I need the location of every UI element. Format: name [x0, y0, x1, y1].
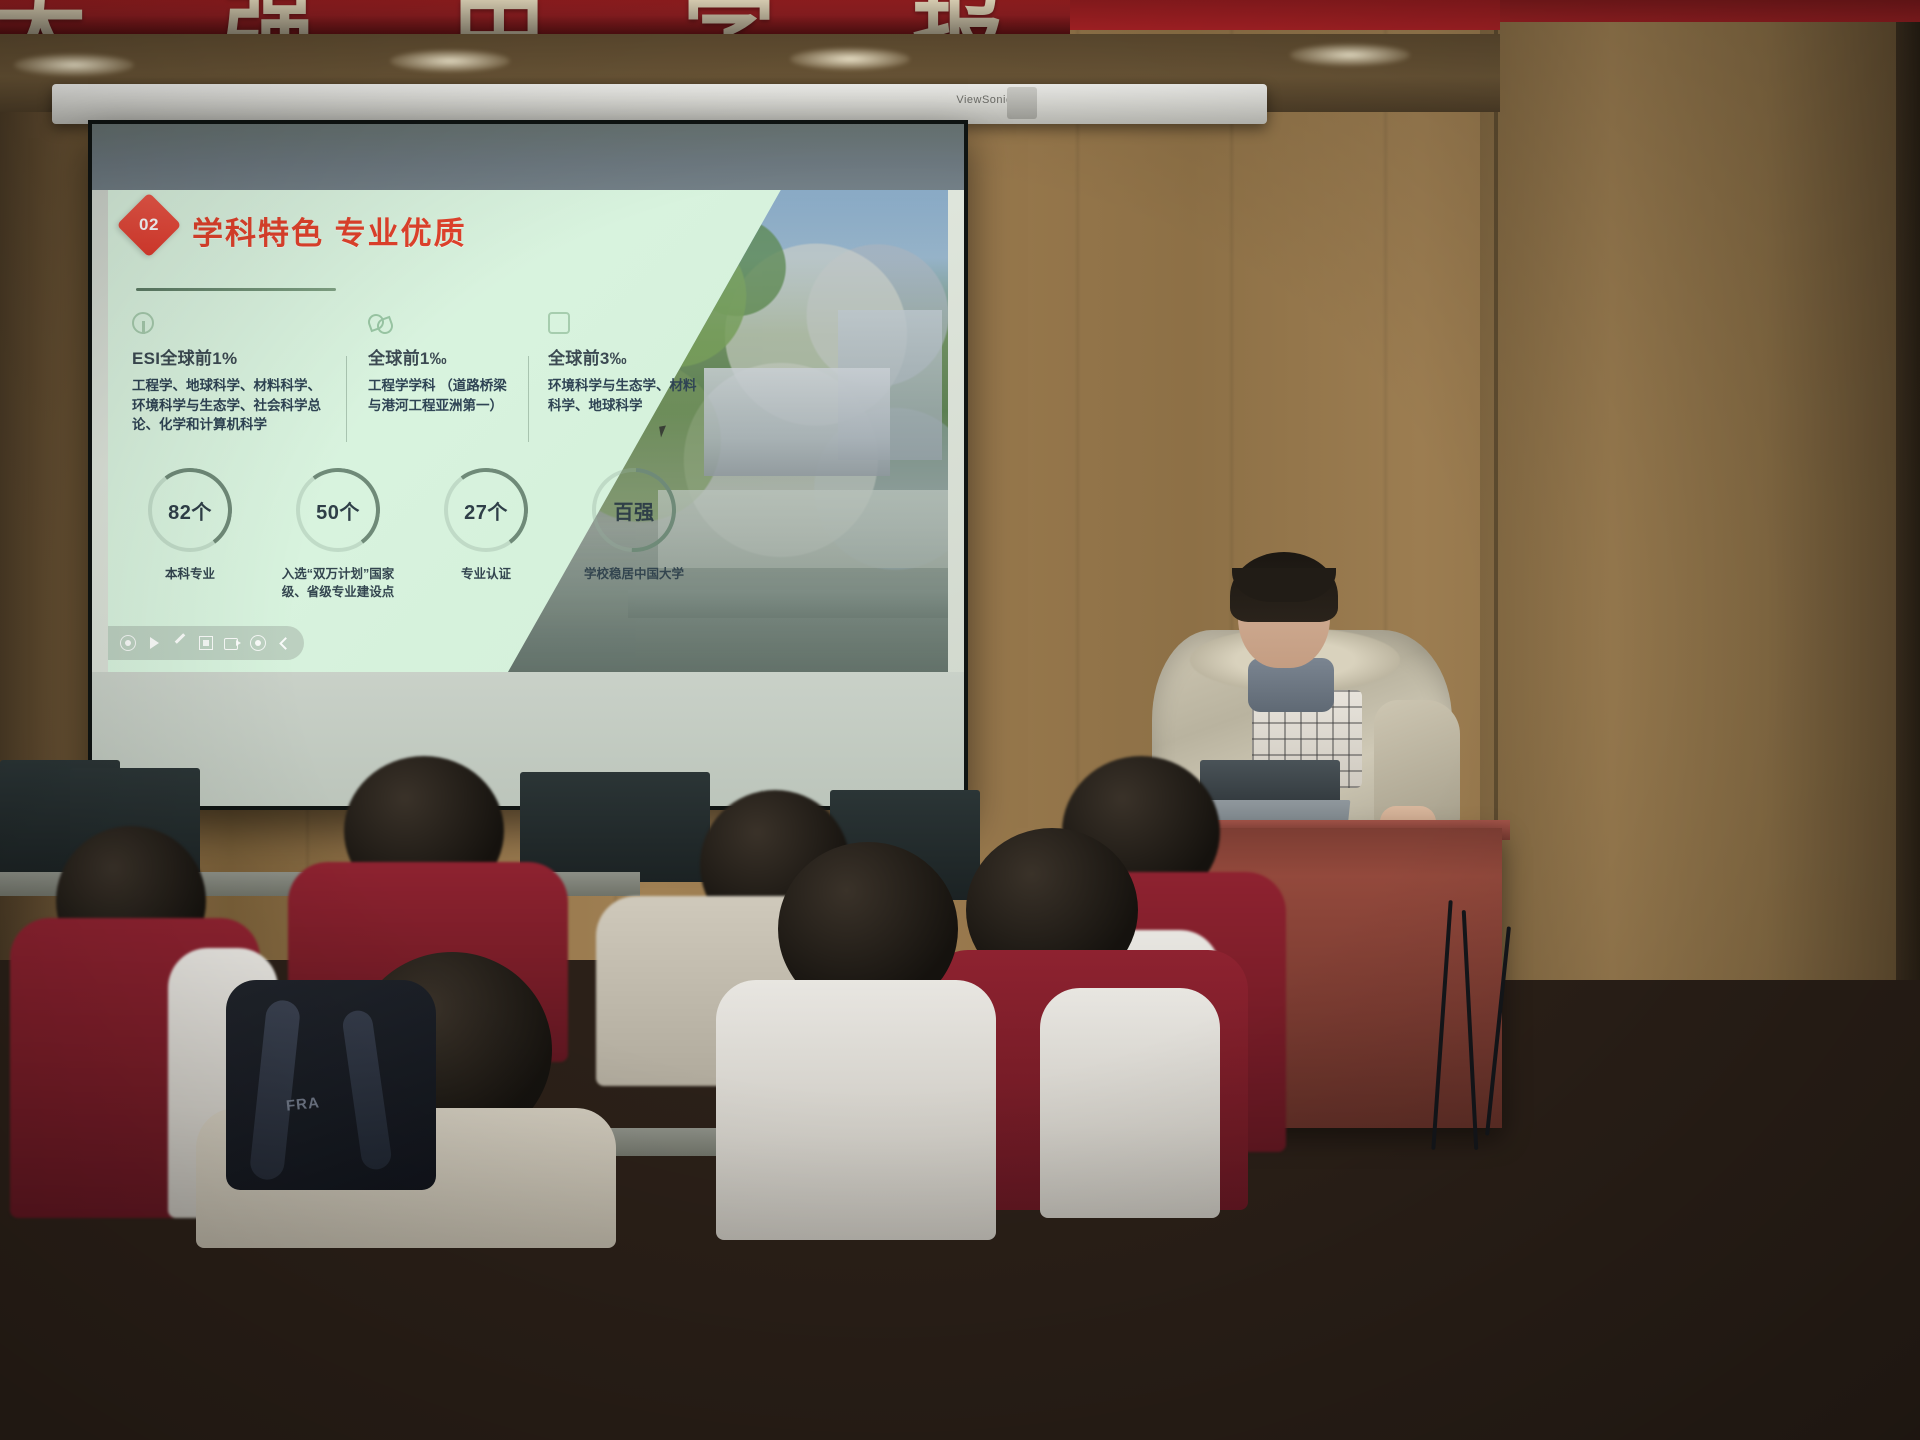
- metric-value: 27个: [444, 468, 528, 552]
- column-heading: 全球前1‰: [368, 344, 518, 369]
- column-body: 环境科学与生态学、材料科学、地球科学: [548, 376, 703, 415]
- banner-shadow: [0, 0, 1070, 34]
- metric-label: 专业认证: [426, 566, 546, 584]
- screen-unlit-top: [92, 124, 964, 190]
- presentation-slide: 02 学科特色 专业优质 ESI全球前1% 工程学、地球科学、材料科学、环境科学…: [108, 190, 948, 672]
- column-divider: [346, 356, 347, 442]
- projector-brand-label: ViewSonic: [956, 94, 1012, 106]
- backpack-logo: FRA: [285, 1094, 320, 1114]
- seat-back: [520, 772, 710, 882]
- column-heading: 全球前3‰: [548, 344, 703, 369]
- column-body: 工程学、地球科学、材料科学、环境科学与生态学、社会科学总论、化学和计算机科学: [132, 376, 332, 435]
- column-divider: [528, 356, 529, 442]
- monitor-icon[interactable]: [224, 635, 240, 651]
- metric-item: 百强 学校稳居中国大学: [574, 468, 694, 584]
- cable: [1485, 926, 1511, 1135]
- projector-screen-housing: ViewSonic: [52, 84, 1267, 124]
- progress-ring: 27个: [444, 468, 528, 552]
- metric-item: 82个 本科专业: [130, 468, 250, 584]
- slide-title: 学科特色 专业优质: [192, 208, 467, 253]
- metric-value: 百强: [592, 468, 676, 552]
- crop-frame-icon[interactable]: [198, 635, 214, 651]
- metric-label: 学校稳居中国大学: [574, 566, 694, 584]
- record-dot-icon[interactable]: [120, 635, 136, 651]
- play-icon[interactable]: [146, 635, 162, 651]
- metric-value: 82个: [148, 468, 232, 552]
- ceiling-light: [390, 50, 510, 72]
- ceiling-light: [1290, 44, 1410, 66]
- more-options-icon[interactable]: [250, 635, 266, 651]
- column-heading: ESI全球前1%: [132, 344, 332, 369]
- campus-building-main: [704, 368, 890, 476]
- metric-item: 27个 专业认证: [426, 468, 546, 584]
- metric-item: 50个 入选“双万计划”国家级、省级专业建设点: [278, 468, 398, 602]
- housing-end-cap: [1007, 87, 1037, 119]
- person-hood: [716, 980, 996, 1240]
- chevron-left-icon[interactable]: [276, 635, 292, 651]
- person-hood: [1040, 988, 1220, 1218]
- metric-value: 50个: [296, 468, 380, 552]
- red-banner-right: [1070, 0, 1500, 30]
- section-number-text: 02: [126, 202, 172, 248]
- metric-rings-row: 82个 本科专业 50个 入选“双万计划”国家级、省级专业建设点 27个: [130, 468, 730, 648]
- red-banner-far: [1500, 0, 1920, 22]
- metric-label: 本科专业: [130, 566, 250, 584]
- progress-ring: 百强: [592, 468, 676, 552]
- progress-ring: 50个: [296, 468, 380, 552]
- tree-outline-icon: [132, 312, 154, 334]
- ceiling-light: [790, 48, 910, 70]
- ceiling-light: [14, 54, 134, 76]
- certificate-icon: [548, 312, 570, 334]
- title-divider: [136, 288, 336, 291]
- presentation-toolbar[interactable]: [108, 626, 304, 660]
- wall-right-column: [1480, 0, 1920, 980]
- highlight-column: 全球前3‰ 环境科学与生态学、材料科学、地球科学: [548, 312, 703, 415]
- cable: [1462, 910, 1479, 1150]
- pen-icon[interactable]: [172, 635, 188, 651]
- ribbon-bow-icon: [368, 312, 390, 334]
- highlight-column: ESI全球前1% 工程学、地球科学、材料科学、环境科学与生态学、社会科学总论、化…: [132, 312, 332, 435]
- cable: [1431, 900, 1452, 1150]
- highlight-column: 全球前1‰ 工程学学科 （道路桥梁与港河工程亚洲第一）: [368, 312, 518, 415]
- screenshot-root: 大 强 中 学 报 考 通 ViewSonic 02 学科特色 专业优质: [0, 0, 1920, 1440]
- column-body: 工程学学科 （道路桥梁与港河工程亚洲第一）: [368, 376, 518, 415]
- red-banner: 大 强 中 学 报 考 通: [0, 0, 1070, 34]
- metric-label: 入选“双万计划”国家级、省级专业建设点: [278, 566, 398, 602]
- progress-ring: 82个: [148, 468, 232, 552]
- cable-bundle: [1430, 900, 1550, 1160]
- wall-far-edge: [1896, 0, 1920, 980]
